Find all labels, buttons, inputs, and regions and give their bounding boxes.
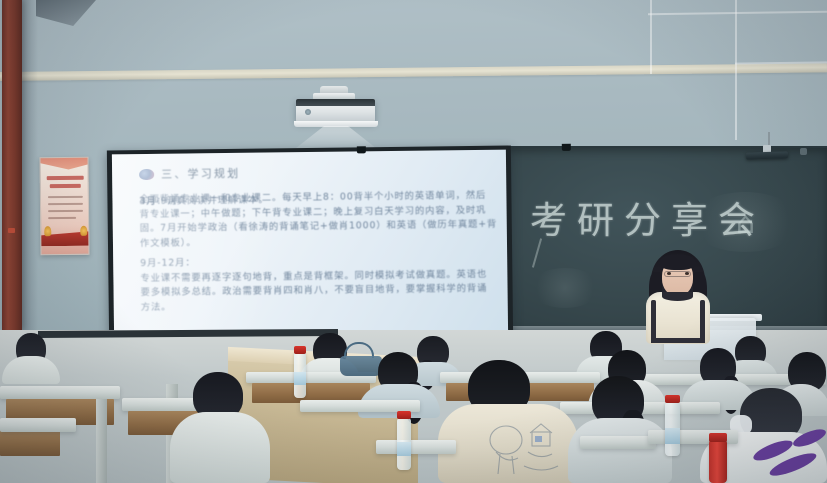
poster-body-line <box>48 196 83 198</box>
presentation-slide: 三、学习规划 3月：认真阅读并理解课本。 4月-9月： 全面背诵专业课一和专业课… <box>112 150 508 339</box>
bottle-cap <box>397 411 411 419</box>
poster-body-line <box>48 203 83 205</box>
presenter-eye <box>685 272 689 275</box>
student-shoulders <box>170 412 270 483</box>
wall-sensor <box>800 148 807 155</box>
bottle-label <box>397 442 411 456</box>
chalk-smudge <box>530 268 600 308</box>
presenter-fringe <box>659 254 696 270</box>
slide-title: 三、学习规划 <box>161 165 240 182</box>
projector-lens-icon <box>305 109 311 115</box>
pillar-shadow <box>22 0 38 340</box>
screen-mount-clip <box>357 146 366 153</box>
projector-vent <box>296 99 375 106</box>
pillar-marking <box>8 228 15 233</box>
wall-panel-seam <box>650 0 652 74</box>
chalk-tree-doodle: ⌂ <box>736 206 755 241</box>
blackboard-title-text: 考研分享会 <box>530 190 820 244</box>
presenter-trim <box>700 300 705 340</box>
desk-panel <box>0 430 60 456</box>
bottle-label <box>665 428 680 444</box>
desk <box>580 436 656 449</box>
presenter <box>640 250 716 345</box>
left-pillar <box>2 0 22 330</box>
wall-panel-seam <box>735 0 737 140</box>
slide-header: 三、学习规划 <box>139 162 486 182</box>
poster-ribbon <box>39 157 89 175</box>
water-bottle <box>709 440 727 483</box>
poster-ornament <box>44 226 51 236</box>
slide-body-line: 方法。 <box>141 296 488 315</box>
hoodie-graphic-print <box>478 420 564 476</box>
tote-bag <box>340 356 382 376</box>
presenter-trim <box>651 338 705 343</box>
presenter-eye <box>667 272 671 275</box>
desk <box>0 386 120 399</box>
bottle-cap <box>709 433 727 442</box>
bottle-cap <box>294 346 306 354</box>
poster-body-line <box>48 210 83 212</box>
student-shoulders <box>568 418 672 483</box>
projection-screen: 三、学习规划 3月：认真阅读并理解课本。 4月-9月： 全面背诵专业课一和专业课… <box>107 146 513 343</box>
screen-mount-clip <box>562 144 571 151</box>
presenter-trim <box>651 300 656 340</box>
poster-title-line <box>50 184 81 188</box>
bottle-cap <box>665 395 680 403</box>
wall-speaker <box>746 151 788 159</box>
classroom-photo: 考研分享会 ⌂ 三、学习规划 3月：认真阅读并理解课本。 4月-9月： 全面背诵… <box>0 0 827 483</box>
desk <box>376 440 456 454</box>
wall-poster <box>39 157 89 256</box>
poster-title-line <box>47 176 84 180</box>
flower-logo-icon <box>139 168 154 179</box>
slide-surface: 三、学习规划 3月：认真阅读并理解课本。 4月-9月： 全面背诵专业课一和专业课… <box>112 150 508 339</box>
presenter-collar <box>662 292 693 301</box>
poster-body-line <box>48 217 76 219</box>
bottle-label <box>294 372 306 385</box>
poster-ornament <box>80 226 87 236</box>
desk-leg <box>96 399 107 483</box>
desk <box>0 418 76 432</box>
